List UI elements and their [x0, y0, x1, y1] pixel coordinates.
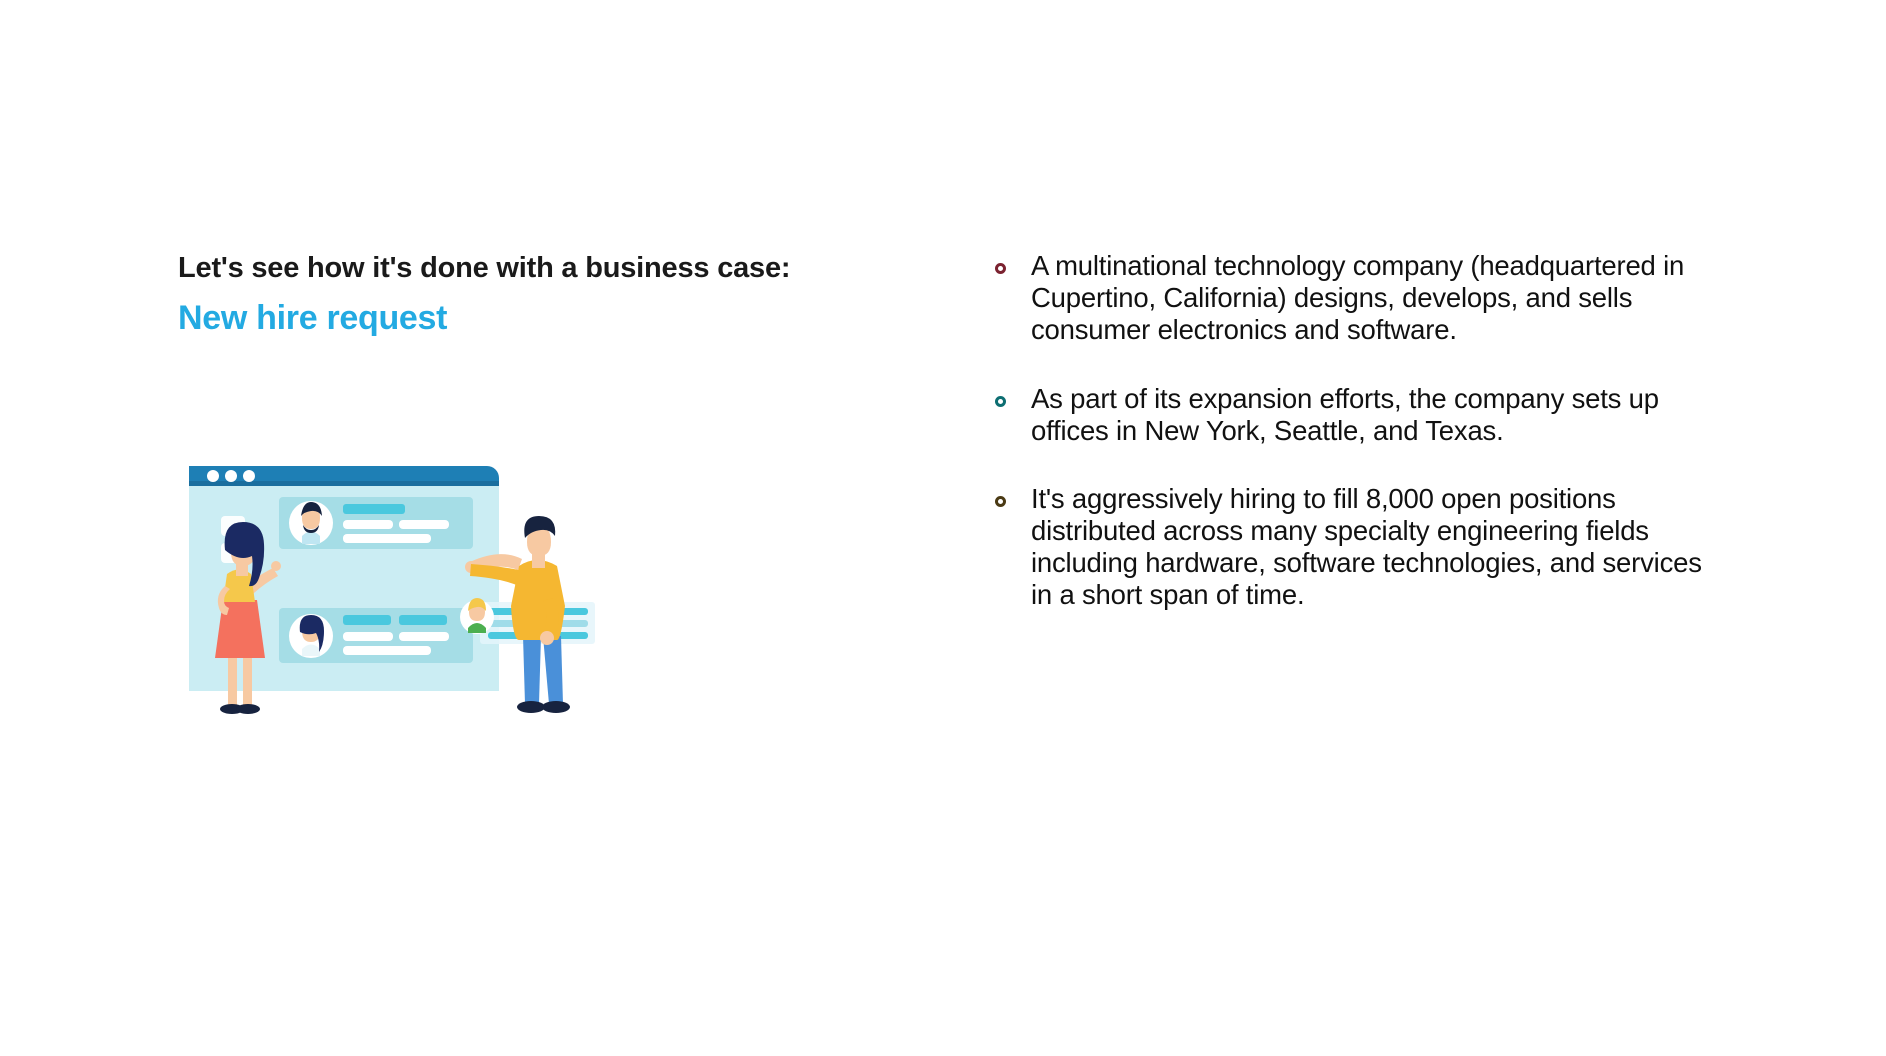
candidate-card-1 [279, 497, 473, 549]
illustration-hiring-scene [175, 440, 625, 740]
bullet-text: It's aggressively hiring to fill 8,000 o… [1031, 483, 1715, 612]
bullet-text: As part of its expansion efforts, the co… [1031, 383, 1715, 447]
slide-canvas: Let's see how it's done with a business … [0, 0, 1886, 1056]
left-text-column: Let's see how it's done with a business … [178, 248, 818, 340]
list-item: It's aggressively hiring to fill 8,000 o… [995, 483, 1715, 612]
bullet-marker-maroon-icon [995, 263, 1006, 274]
bullet-list: A multinational technology company (head… [995, 250, 1715, 612]
bullet-marker-teal-icon [995, 396, 1006, 407]
page-subtitle: New hire request [178, 296, 818, 340]
bullet-text: A multinational technology company (head… [1031, 250, 1715, 347]
page-title: Let's see how it's done with a business … [178, 248, 818, 288]
list-item: A multinational technology company (head… [995, 250, 1715, 347]
bullet-marker-olive-icon [995, 496, 1006, 507]
list-item: As part of its expansion efforts, the co… [995, 383, 1715, 447]
candidate-card-2 [279, 608, 473, 663]
